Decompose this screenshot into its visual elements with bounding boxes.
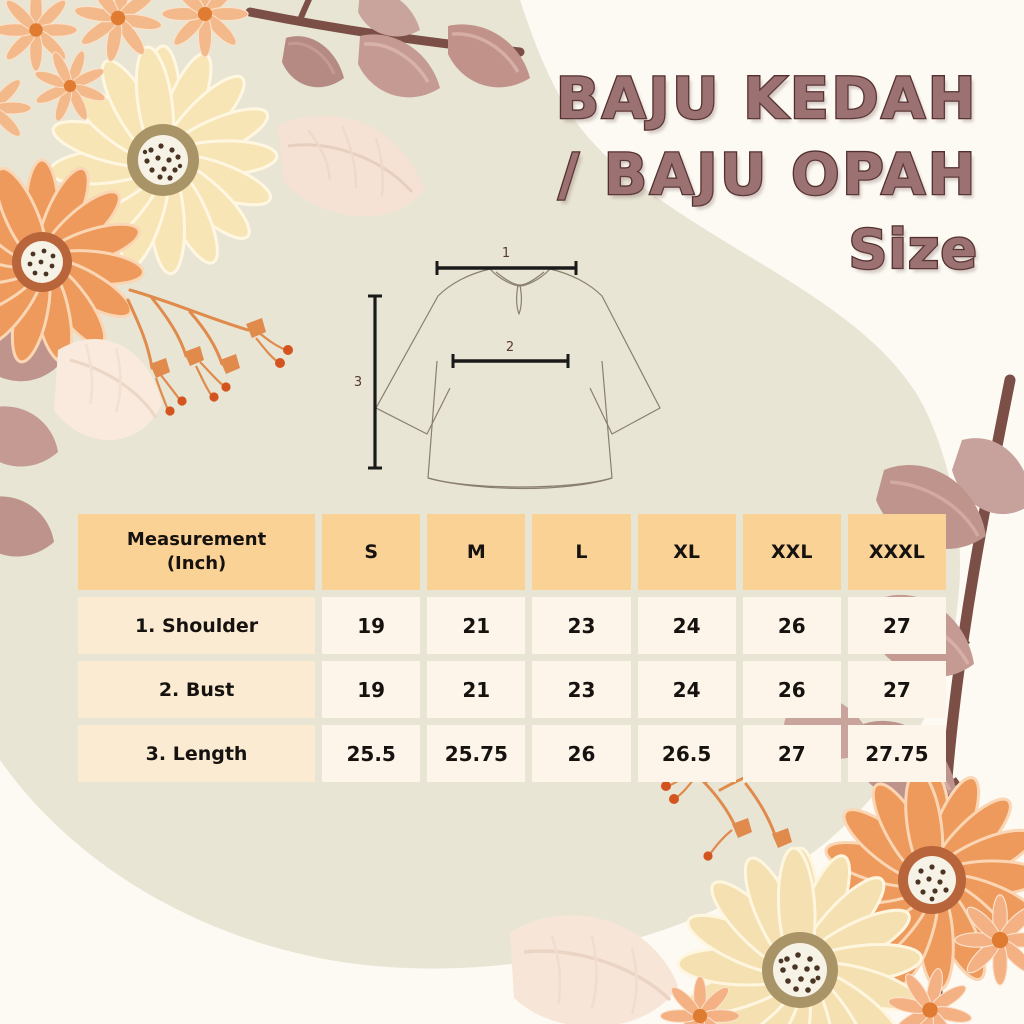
cell-shoulder-l: 23 <box>532 597 630 654</box>
cell-length-s: 25.5 <box>322 725 420 782</box>
cell-shoulder-xxxl: 27 <box>848 597 946 654</box>
cell-length-l: 26 <box>532 725 630 782</box>
cell-length-xxl: 27 <box>743 725 841 782</box>
table-row-bust: 2. Bust 19 21 23 24 26 27 <box>78 661 946 718</box>
header-cell-xxl: XXL <box>743 514 841 590</box>
row-label-length: 3. Length <box>78 725 315 782</box>
cell-length-xxxl: 27.75 <box>848 725 946 782</box>
cell-bust-l: 23 <box>532 661 630 718</box>
row-label-bust: 2. Bust <box>78 661 315 718</box>
table-row-shoulder: 1. Shoulder 19 21 23 24 26 27 <box>78 597 946 654</box>
cell-bust-xl: 24 <box>638 661 736 718</box>
header-cell-xl: XL <box>638 514 736 590</box>
row-label-shoulder: 1. Shoulder <box>78 597 315 654</box>
cell-length-m: 25.75 <box>427 725 525 782</box>
header-cell-l: L <box>532 514 630 590</box>
cell-shoulder-s: 19 <box>322 597 420 654</box>
header-cell-s: S <box>322 514 420 590</box>
size-chart-canvas: BAJU KEDAH / BAJU OPAH Size 1 <box>0 0 1024 1024</box>
title-line-2: / BAJU OPAH <box>358 138 978 214</box>
cell-bust-s: 19 <box>322 661 420 718</box>
table-row-length: 3. Length 25.5 25.75 26 26.5 27 27.75 <box>78 725 946 782</box>
header-cell-measurement: Measurement (Inch) <box>78 514 315 590</box>
header-cell-m: M <box>427 514 525 590</box>
title-line-3: Size <box>358 214 978 286</box>
title-line-1: BAJU KEDAH <box>358 62 978 138</box>
table-header-row: Measurement (Inch) S M L XL XXL XXXL <box>78 514 946 590</box>
header-measurement-line2: (Inch) <box>127 552 266 576</box>
size-table: Measurement (Inch) S M L XL XXL XXXL 1. … <box>78 514 946 782</box>
cell-bust-m: 21 <box>427 661 525 718</box>
cell-shoulder-m: 21 <box>427 597 525 654</box>
cell-shoulder-xxl: 26 <box>743 597 841 654</box>
cell-shoulder-xl: 24 <box>638 597 736 654</box>
cell-bust-xxxl: 27 <box>848 661 946 718</box>
page-title: BAJU KEDAH / BAJU OPAH Size <box>358 62 978 285</box>
cell-length-xl: 26.5 <box>638 725 736 782</box>
header-cell-xxxl: XXXL <box>848 514 946 590</box>
cell-bust-xxl: 26 <box>743 661 841 718</box>
header-measurement-line1: Measurement <box>127 528 266 552</box>
